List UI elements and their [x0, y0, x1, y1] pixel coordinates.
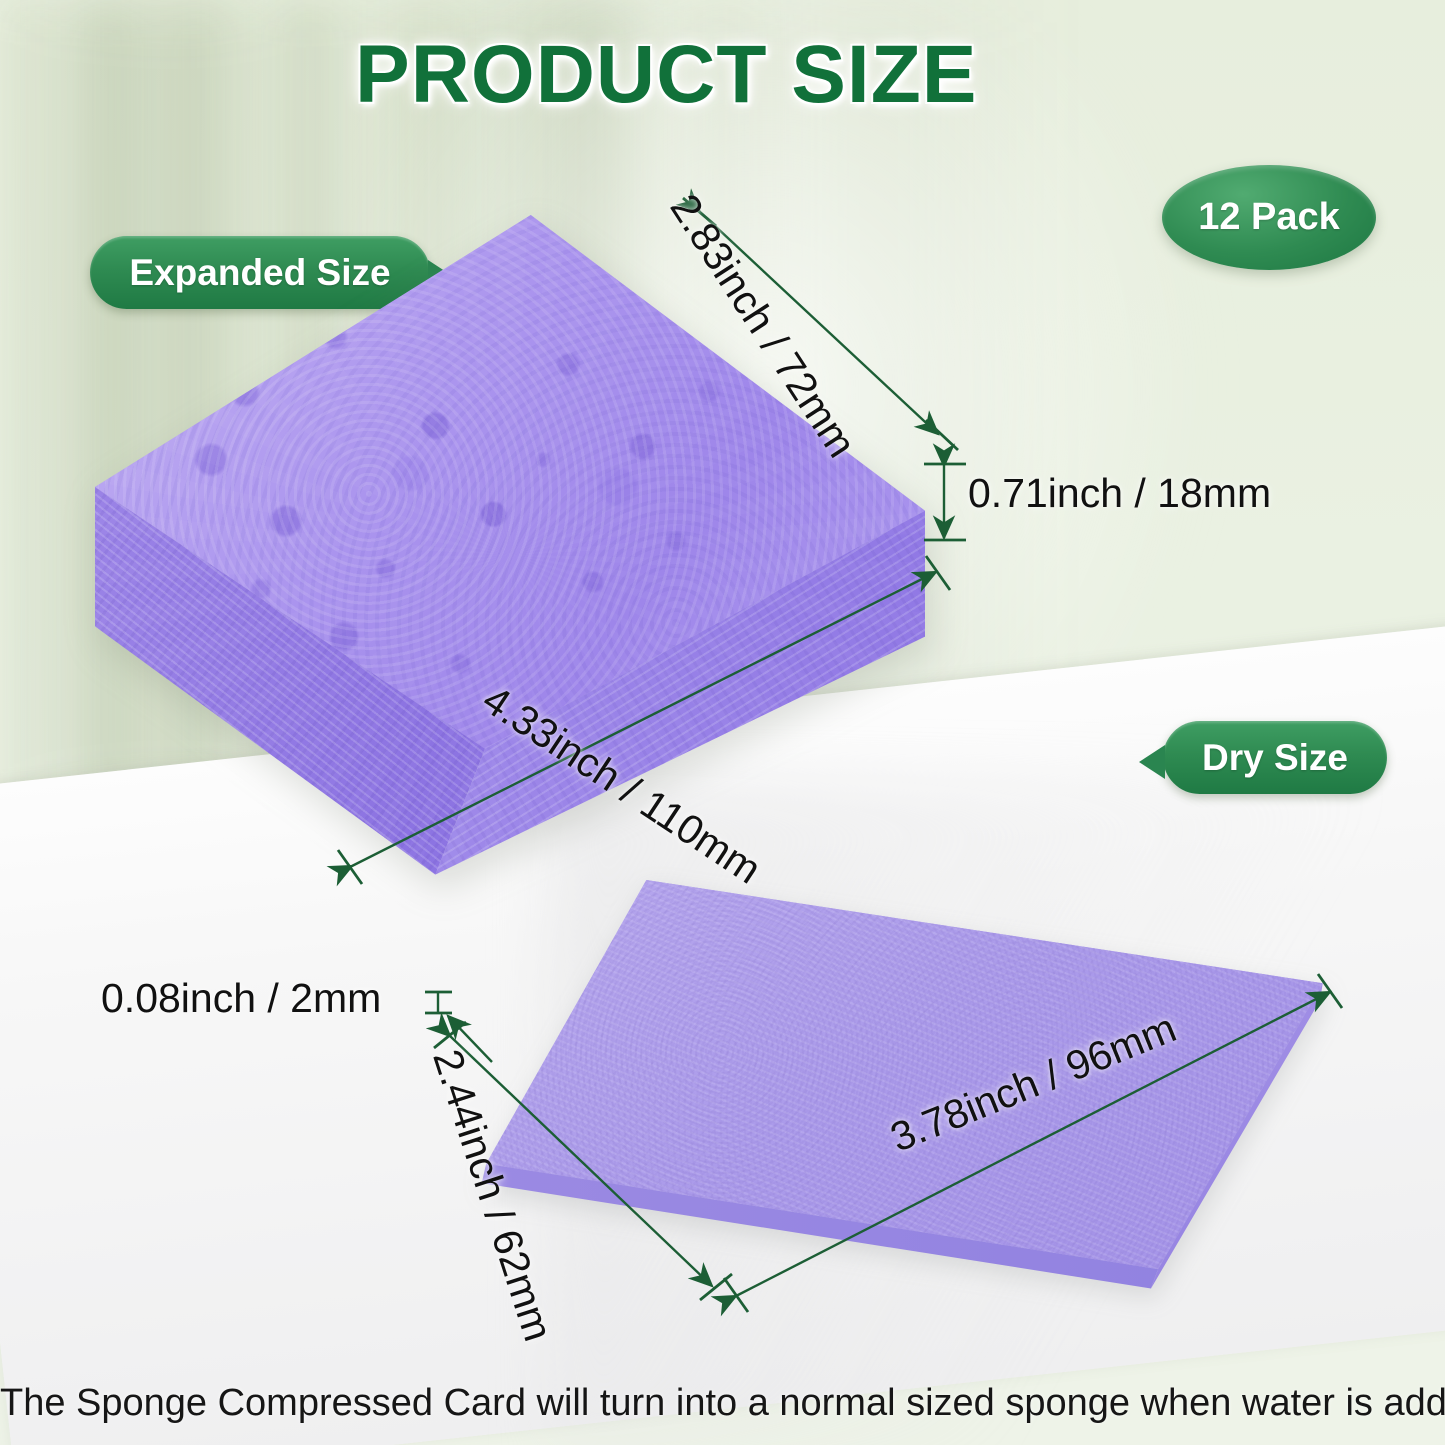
product-size-infographic: PRODUCT SIZE Expanded Size Dry Size 12 P… — [0, 0, 1445, 1445]
footer-caption: The Sponge Compressed Card will turn int… — [0, 1382, 1445, 1425]
label-expanded-thickness: 0.71inch / 18mm — [968, 470, 1271, 517]
badge-pack-count: 12 Pack — [1162, 165, 1376, 270]
callout-tail-left-icon — [1139, 745, 1165, 779]
expanded-sponge-image — [95, 215, 925, 895]
badge-pack-count-label: 12 Pack — [1198, 196, 1340, 239]
badge-dry-size: Dry Size — [1163, 721, 1387, 794]
page-title: PRODUCT SIZE — [355, 28, 977, 122]
badge-dry-size-label: Dry Size — [1202, 737, 1348, 779]
dry-card-image — [455, 880, 1345, 1310]
label-dry-thickness: 0.08inch / 2mm — [101, 975, 381, 1022]
